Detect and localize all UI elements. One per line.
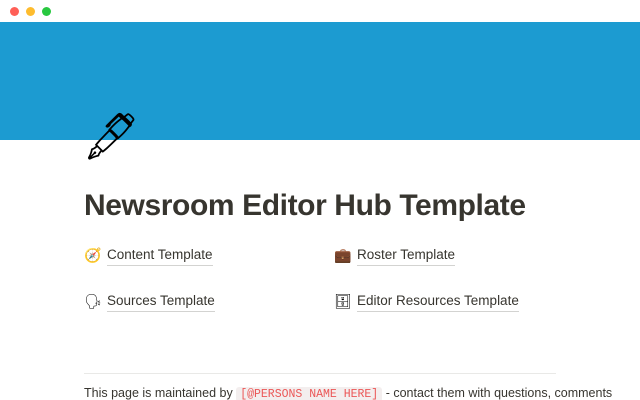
compass-icon: 🧭 <box>84 247 100 265</box>
link-sources-template[interactable]: 🗣 Sources Template <box>84 292 334 312</box>
link-label: Sources Template <box>107 292 215 312</box>
maximize-button[interactable] <box>42 7 51 16</box>
content-divider <box>84 373 556 374</box>
link-label: Roster Template <box>357 246 455 266</box>
maintainer-placeholder-code[interactable]: [@PERSONS NAME HERE] <box>236 387 382 400</box>
footer-maintainer-note: This page is maintained by [@PERSONS NAM… <box>84 384 584 400</box>
briefcase-icon: 💼 <box>334 247 350 265</box>
page-title: Newsroom Editor Hub Template <box>84 140 556 224</box>
page-content: Newsroom Editor Hub Template 🧭 Content T… <box>0 140 640 400</box>
window-titlebar <box>0 0 640 22</box>
browser-window: 🖋 Newsroom Editor Hub Template 🧭 Content… <box>0 0 640 400</box>
fountain-pen-icon[interactable]: 🖋 <box>82 108 138 164</box>
minimize-button[interactable] <box>26 7 35 16</box>
link-label: Content Template <box>107 246 213 266</box>
speaking-head-icon: 🗣 <box>84 293 100 311</box>
template-link-grid: 🧭 Content Template 💼 Roster Template 🗣 S… <box>84 246 556 312</box>
window-controls <box>10 7 51 16</box>
link-editor-resources-template[interactable]: 🗄 Editor Resources Template <box>334 292 556 312</box>
close-button[interactable] <box>10 7 19 16</box>
footer-tail-text: - contact them with questions, comments <box>386 386 612 400</box>
link-label: Editor Resources Template <box>357 292 519 312</box>
link-roster-template[interactable]: 💼 Roster Template <box>334 246 556 266</box>
file-cabinet-icon: 🗄 <box>334 293 350 311</box>
footer-lead-text: This page is maintained by <box>84 386 233 400</box>
link-content-template[interactable]: 🧭 Content Template <box>84 246 334 266</box>
